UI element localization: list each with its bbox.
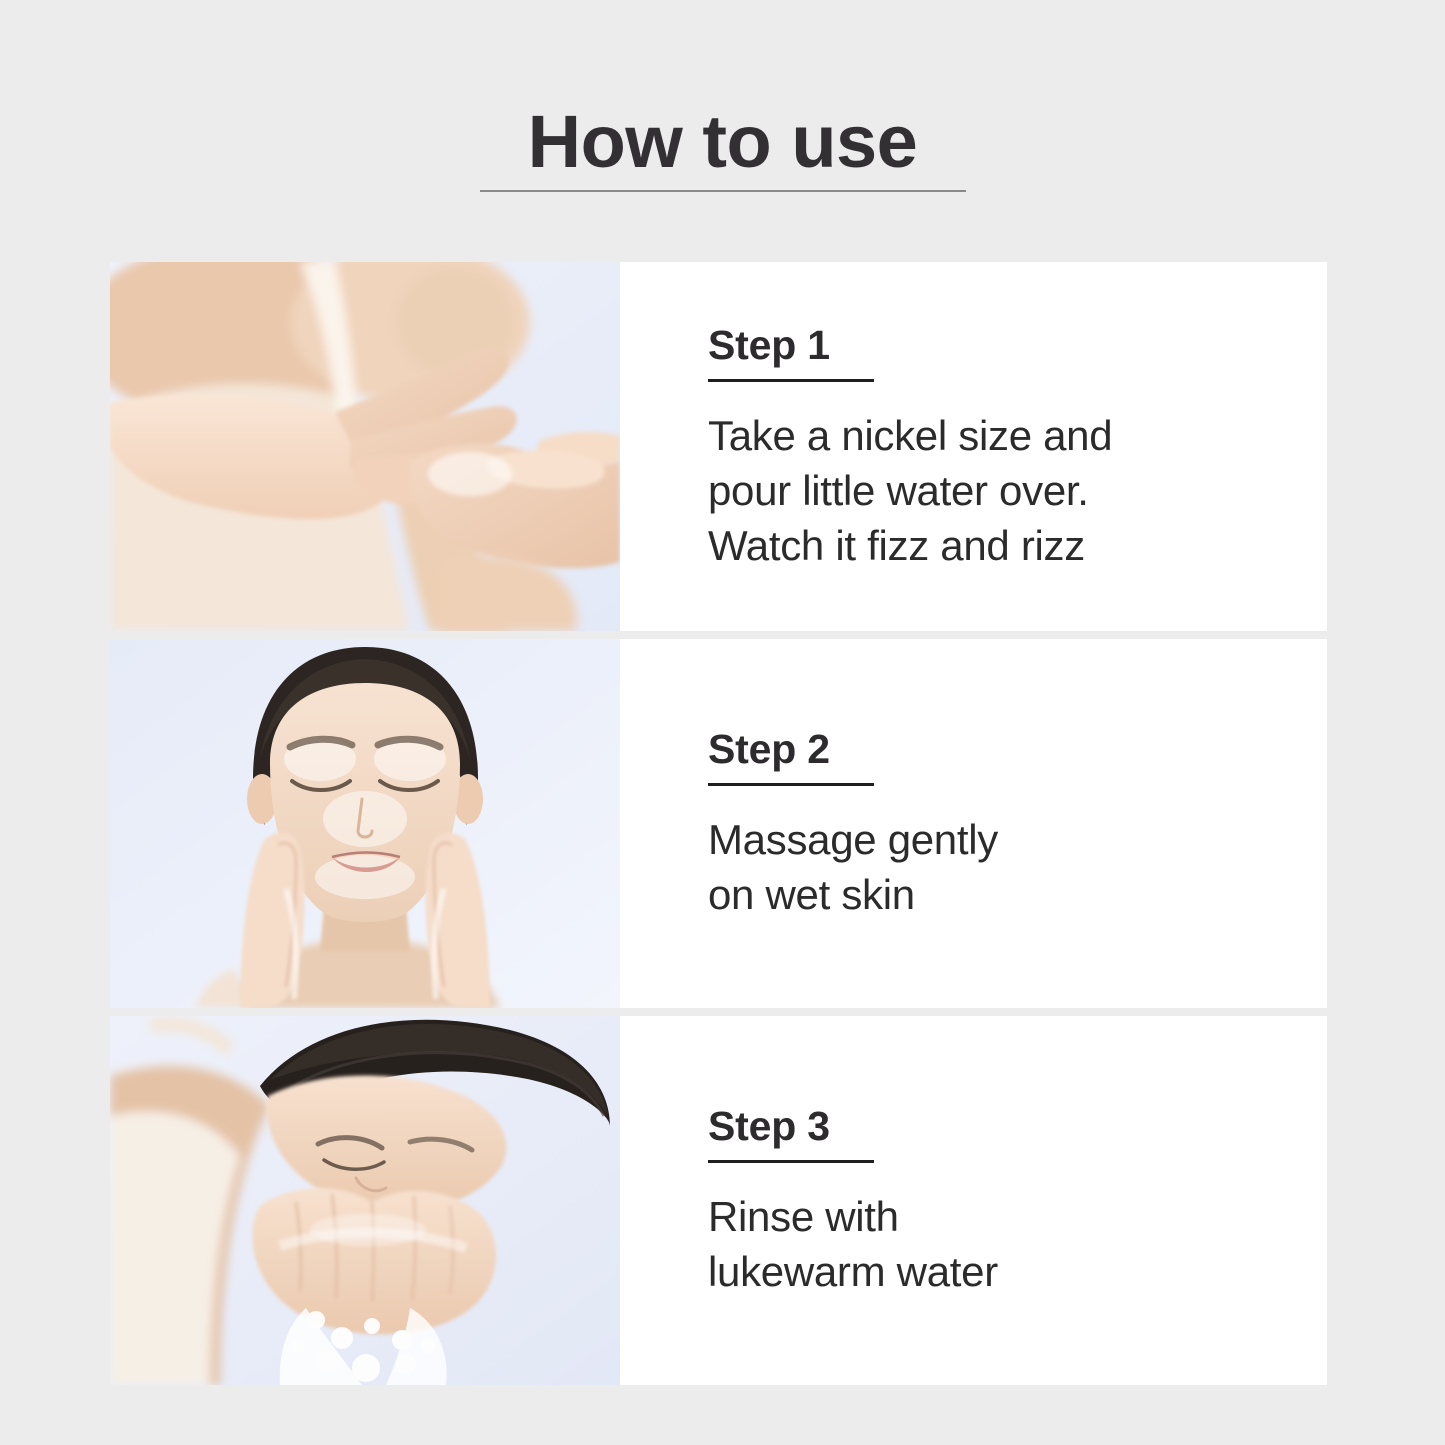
step-3-heading-underline: [708, 1160, 874, 1163]
step-3-text-panel: Step 3 Rinse with lukewarm water: [620, 1016, 1327, 1385]
step-3-heading: Step 3: [708, 1102, 1287, 1150]
page-title-block: How to use: [0, 98, 1445, 192]
step-2-heading-underline: [708, 783, 874, 786]
step-3-photo-rinsing-face: [110, 1016, 620, 1385]
step-row-3: Step 3 Rinse with lukewarm water: [110, 1016, 1327, 1385]
step-row-1: Step 1 Take a nickel size and pour littl…: [110, 262, 1327, 631]
step-1-photo-hands-lathering: [110, 262, 620, 631]
step-1-text-panel: Step 1 Take a nickel size and pour littl…: [620, 262, 1327, 631]
page-title: How to use: [0, 98, 1445, 186]
step-3-body: Rinse with lukewarm water: [708, 1189, 1287, 1299]
step-2-body: Massage gently on wet skin: [708, 812, 1287, 922]
step-2-heading: Step 2: [708, 725, 1287, 773]
step-2-text-panel: Step 2 Massage gently on wet skin: [620, 639, 1327, 1008]
step-1-body: Take a nickel size and pour little water…: [708, 408, 1287, 573]
how-to-use-page: How to use: [0, 0, 1445, 1445]
step-row-2: Step 2 Massage gently on wet skin: [110, 639, 1327, 1008]
step-1-heading: Step 1: [708, 321, 1287, 369]
page-title-underline: [480, 190, 966, 192]
steps-list: Step 1 Take a nickel size and pour littl…: [110, 262, 1327, 1385]
step-2-photo-massaging-face: [110, 639, 620, 1008]
step-1-heading-underline: [708, 379, 874, 382]
